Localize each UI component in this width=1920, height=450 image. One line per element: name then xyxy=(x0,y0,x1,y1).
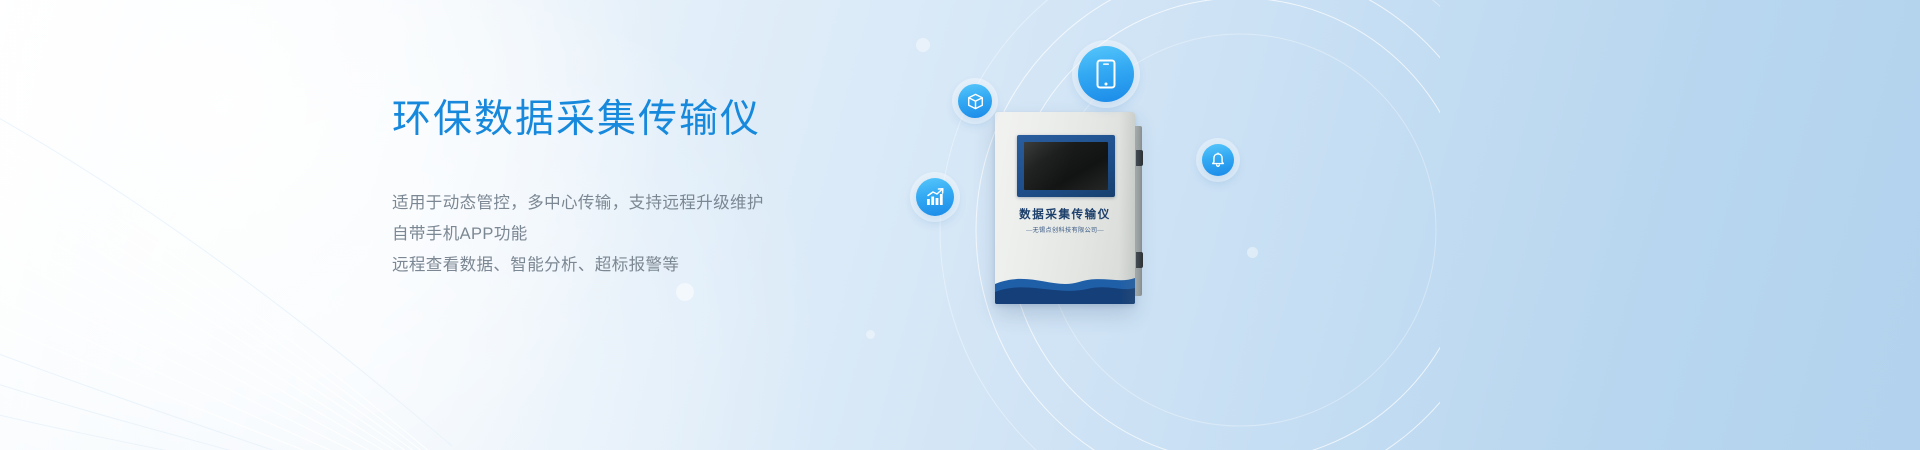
decorative-bubble xyxy=(676,283,694,301)
decorative-bubble xyxy=(1247,247,1258,258)
device-nameplate: 数据采集传输仪 —无锡点创科技有限公司— xyxy=(995,208,1135,235)
device-screen-bezel xyxy=(1017,135,1115,197)
device-company-text: —无锡点创科技有限公司— xyxy=(995,226,1135,235)
decorative-bubble xyxy=(866,330,875,339)
device-screen xyxy=(1024,142,1108,190)
product-device-image: 数据采集传输仪 —无锡点创科技有限公司— xyxy=(995,112,1143,308)
device-bottom-wave xyxy=(995,268,1135,304)
banner-subtitle-line-2: 自带手机APP功能 xyxy=(392,219,952,250)
alarm-bell-icon[interactable] xyxy=(1202,144,1234,176)
banner-copy-block: 环保数据采集传输仪 适用于动态管控，多中心传输，支持远程升级维护 自带手机APP… xyxy=(392,96,952,281)
decorative-bubble xyxy=(916,38,930,52)
smartphone-icon[interactable] xyxy=(1078,46,1134,102)
device-latch-top xyxy=(1136,150,1143,166)
product-hero-banner: 环保数据采集传输仪 适用于动态管控，多中心传输，支持远程升级维护 自带手机APP… xyxy=(0,0,1920,450)
device-name-text: 数据采集传输仪 xyxy=(995,208,1135,223)
device-latch-bottom xyxy=(1136,252,1143,268)
bar-chart-icon[interactable] xyxy=(916,178,954,216)
banner-subtitle-line-1: 适用于动态管控，多中心传输，支持远程升级维护 xyxy=(392,188,952,219)
package-cube-icon[interactable] xyxy=(958,84,992,118)
banner-headline: 环保数据采集传输仪 xyxy=(392,96,952,144)
device-enclosure: 数据采集传输仪 —无锡点创科技有限公司— xyxy=(995,112,1135,304)
banner-subtitle-list: 适用于动态管控，多中心传输，支持远程升级维护 自带手机APP功能 远程查看数据、… xyxy=(392,188,952,281)
banner-subtitle-line-3: 远程查看数据、智能分析、超标报警等 xyxy=(392,250,952,281)
